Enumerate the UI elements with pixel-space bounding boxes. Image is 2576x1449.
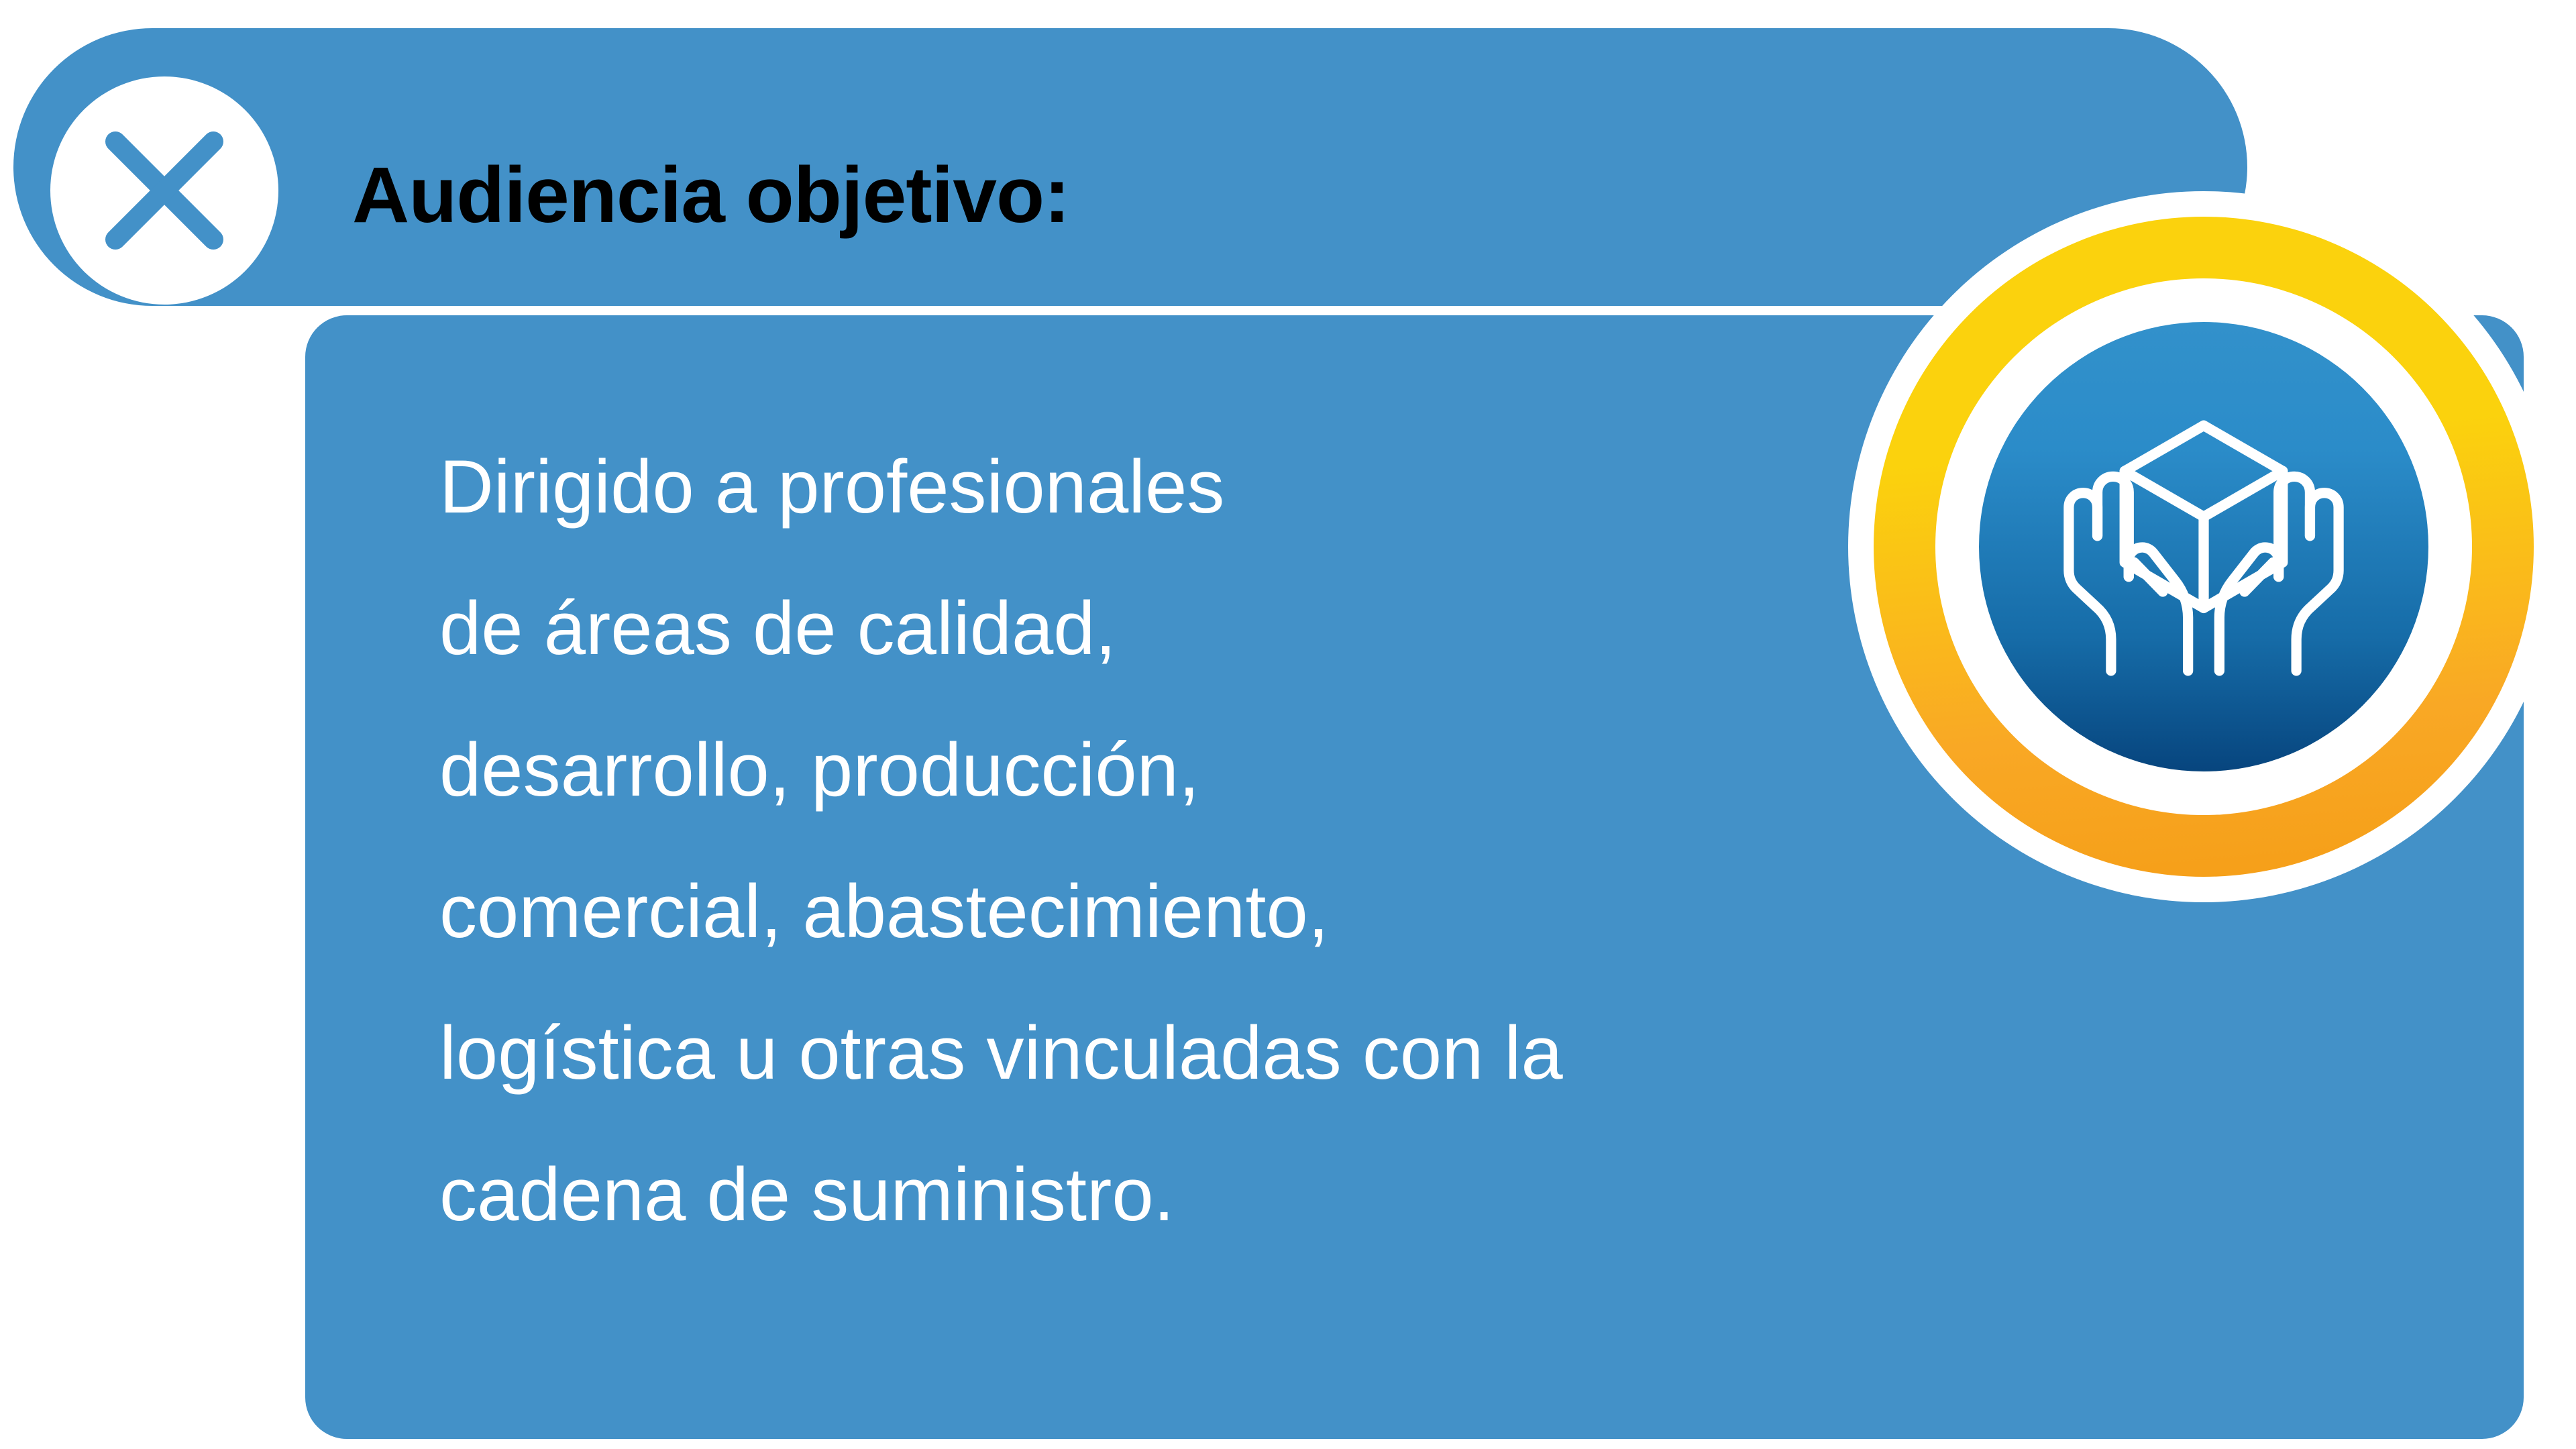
description-line: desarrollo, producción, [439, 699, 2016, 841]
description-line: cadena de suministro. [439, 1124, 2016, 1265]
page-title: Audiencia objetivo: [352, 56, 1069, 334]
audience-description: Dirigido a profesionales de áreas de cal… [439, 416, 2016, 1265]
description-line: Dirigido a profesionales [439, 416, 2016, 557]
description-line: logística u otras vinculadas con la [439, 982, 2016, 1124]
close-x-icon [94, 120, 235, 261]
close-button[interactable] [50, 76, 278, 305]
description-line: comercial, abastecimiento, [439, 841, 2016, 982]
supply-chain-badge [1848, 191, 2559, 902]
badge-disc [1979, 322, 2428, 771]
slide-canvas: Audiencia objetivo: Dirigido a profesion… [0, 0, 2576, 1449]
description-line: de áreas de calidad, [439, 557, 2016, 699]
